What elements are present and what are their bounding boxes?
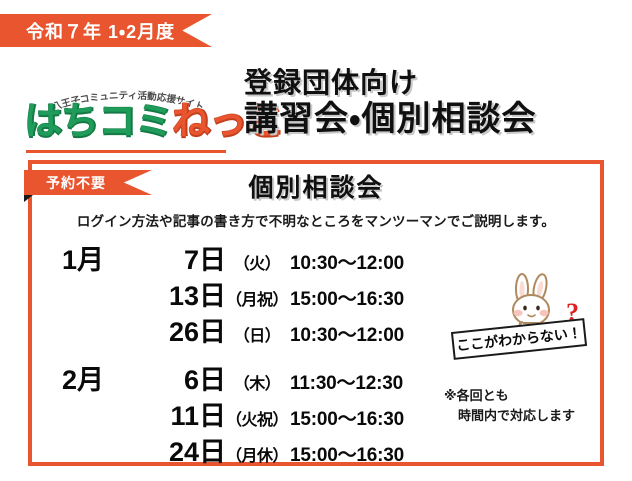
- schedule-day: 24日: [140, 430, 226, 469]
- schedule-time: 10:30〜12:00: [288, 248, 404, 275]
- schedule-day: 13日: [140, 274, 226, 313]
- schedule-weekday: （木）: [226, 370, 288, 394]
- schedule-row: 26日 （日） 10:30〜12:00: [62, 310, 462, 346]
- footnote-line2: 時間内で対応します: [444, 406, 575, 426]
- schedule-time: 10:30〜12:00: [288, 320, 404, 347]
- schedule-row: 11日 （火祝） 15:00〜16:30: [62, 394, 462, 430]
- schedule-day: 7日: [140, 238, 226, 277]
- schedule-weekday: （月休）: [226, 442, 288, 466]
- footnote-line1: ※各回とも: [444, 388, 509, 403]
- schedule-time: 15:00〜16:30: [288, 440, 404, 467]
- schedule-day: 26日: [140, 310, 226, 349]
- schedule-list: 1月 7日 （火） 10:30〜12:00 13日 （月祝） 15:00〜16:…: [62, 238, 462, 466]
- schedule-row: 24日 （月休） 15:00〜16:30: [62, 430, 462, 466]
- section-description: ログイン方法や記事の書き方で不明なところをマンツーマンでご説明します。: [0, 210, 632, 230]
- schedule-month: 1月: [62, 238, 140, 277]
- schedule-time: 11:30〜12:30: [288, 368, 403, 395]
- section-title: 個別相談会: [0, 168, 632, 204]
- schedule-time: 15:00〜16:30: [288, 284, 404, 311]
- footnote: ※各回とも 時間内で対応します: [444, 386, 575, 425]
- schedule-time: 15:00〜16:30: [288, 404, 404, 431]
- schedule-day: 6日: [140, 358, 226, 397]
- schedule-row: 2月 6日 （木） 11:30〜12:30: [62, 358, 462, 394]
- logo-wordmark: はちコミねっと: [24, 103, 232, 141]
- period-ribbon-label: 令和７年 1・2月度: [0, 18, 175, 44]
- schedule-month: 2月: [62, 358, 140, 397]
- period-ribbon: 令和７年 1・2月度: [0, 14, 212, 47]
- schedule-row: 13日 （月祝） 15:00〜16:30: [62, 274, 462, 310]
- page-title-line1: 登録団体向け: [244, 66, 620, 99]
- schedule-weekday: （火）: [226, 250, 288, 274]
- schedule-weekday: （火祝）: [226, 406, 288, 430]
- site-logo: 八王子コミュニティ活動応援サイト はちコミねっと: [24, 86, 232, 152]
- schedule-day: 11日: [140, 394, 226, 433]
- schedule-weekday: （日）: [226, 322, 288, 346]
- logo-wordmark-green: はちコミ: [24, 101, 172, 143]
- schedule-row: 1月 7日 （火） 10:30〜12:00: [62, 238, 462, 274]
- page-title: 登録団体向け 講習会・個別相談会: [244, 66, 620, 140]
- page-title-line2: 講習会・個別相談会: [244, 99, 620, 140]
- schedule-weekday: （月祝）: [226, 286, 288, 310]
- logo-underline: [26, 150, 226, 153]
- poster-root: 令和７年 1・2月度 八王子コミュニティ活動応援サイト はちコミねっと 登録団体…: [0, 0, 632, 481]
